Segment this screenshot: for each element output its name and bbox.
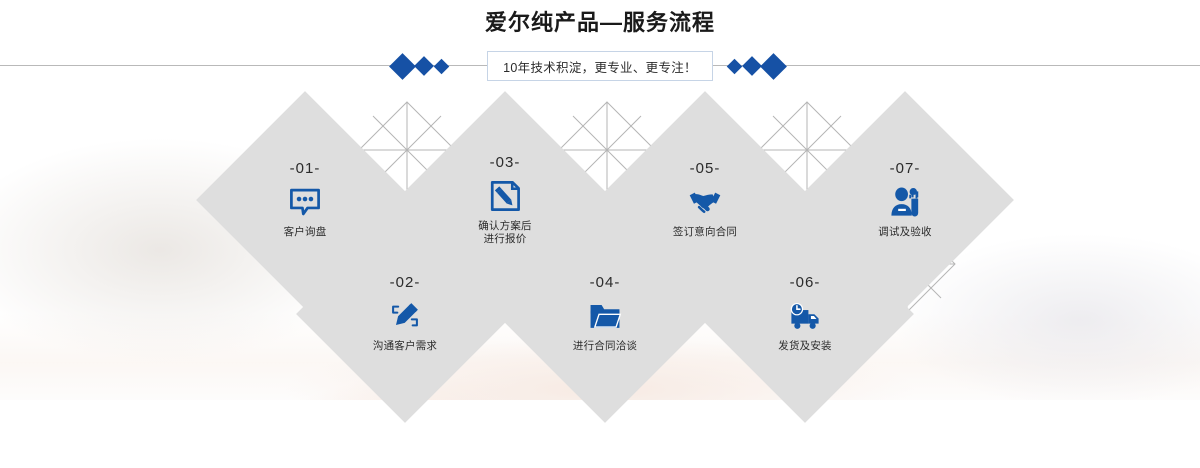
folder-icon bbox=[588, 299, 622, 333]
step-label: 调试及验收 bbox=[878, 226, 932, 239]
small-diamond-icon bbox=[727, 58, 743, 74]
delivery-truck-icon bbox=[788, 299, 822, 333]
technician-wrench-icon bbox=[888, 185, 922, 219]
step-number: -06- bbox=[790, 275, 821, 291]
small-diamond-icon bbox=[434, 58, 450, 74]
header-diamonds-right bbox=[729, 50, 783, 82]
header-diamonds-left bbox=[393, 50, 447, 82]
step-number: -02- bbox=[390, 275, 421, 291]
step-number: -03- bbox=[490, 155, 521, 171]
medium-diamond-icon bbox=[414, 56, 434, 76]
step-label: 进行合同洽谈 bbox=[573, 340, 637, 353]
step-number: -05- bbox=[690, 161, 721, 177]
step-number: -01- bbox=[290, 161, 321, 177]
step-label: 发货及安装 bbox=[778, 340, 832, 353]
step-label: 客户询盘 bbox=[284, 226, 327, 239]
service-process-flow: -01- 客户询盘 -02- bbox=[0, 92, 1200, 400]
subtitle-box: 10年技术积淀，更专业、更专注！ bbox=[487, 51, 713, 81]
speech-bubble-icon bbox=[288, 185, 322, 219]
handshake-icon bbox=[688, 185, 722, 219]
page-header: 爱尔纯产品—服务流程 10年技术积淀，更专业、更专注！ bbox=[0, 0, 1200, 92]
process-step-07[interactable]: -07- 调试及验收 bbox=[796, 91, 1014, 309]
step-number: -04- bbox=[590, 275, 621, 291]
step-number: -07- bbox=[890, 161, 921, 177]
large-diamond-icon bbox=[389, 53, 416, 80]
step-label: 沟通客户需求 bbox=[373, 340, 437, 353]
document-pencil-icon bbox=[488, 179, 522, 213]
page-title: 爱尔纯产品—服务流程 bbox=[0, 8, 1200, 38]
large-diamond-icon bbox=[760, 53, 787, 80]
subtitle-text: 10年技术积淀，更专业、更专注！ bbox=[503, 57, 697, 76]
pen-writing-icon bbox=[388, 299, 422, 333]
step-label: 确认方案后 进行报价 bbox=[478, 220, 532, 246]
